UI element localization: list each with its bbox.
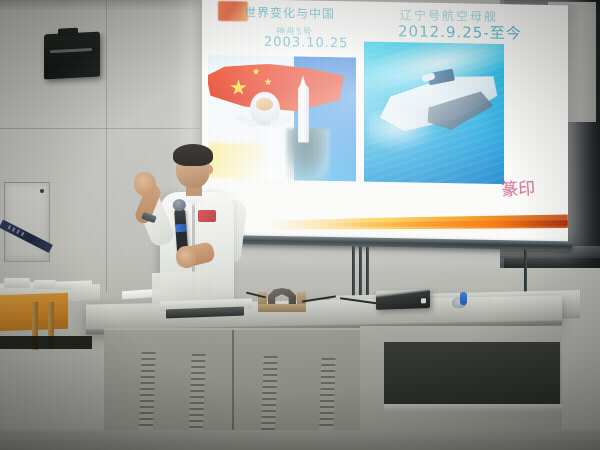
- desk-item: [56, 282, 72, 290]
- presenter-hair: [173, 144, 213, 166]
- blue-object: [452, 292, 470, 308]
- floor: [0, 430, 600, 450]
- presenter-mic-hand: [176, 246, 196, 268]
- presenter-ear: [207, 165, 213, 174]
- desk-item: [34, 280, 56, 289]
- desk-ornament: [258, 288, 306, 310]
- red-seal-stamp: 篆印: [501, 181, 547, 217]
- podium-shelf: [384, 404, 562, 412]
- microphone-head: [172, 199, 186, 212]
- wall-seam: [0, 128, 210, 129]
- screen-support-leg: [524, 250, 527, 294]
- media-box[interactable]: [376, 289, 430, 310]
- speaker-bracket: [58, 28, 78, 36]
- desk-item: [4, 278, 30, 288]
- status-led-icon: [421, 298, 426, 303]
- projection-screen[interactable]: 世界变化与中国 神舟5号 2003.10.25 辽宁号航空母舰 2012.9.2…: [202, 0, 568, 243]
- panel-latch-icon[interactable]: [40, 189, 44, 193]
- lecture-hall-photo: 板书 笔记 世界变化与中国 神舟5号 2003.10.25 辽宁号航空母舰 20…: [0, 0, 600, 450]
- rocket-icon: [298, 84, 309, 142]
- projection-screen-assembly: 世界变化与中国 神舟5号 2003.10.25 辽宁号航空母舰 2012.9.2…: [202, 0, 570, 253]
- slide-image-liaoning: [364, 42, 504, 185]
- slide-title: 世界变化与中国: [244, 3, 335, 22]
- shirt-logo: [198, 210, 216, 222]
- right-caption-line2: 2012.9.25-至今: [398, 20, 522, 43]
- wall-speaker-icon: [44, 32, 100, 80]
- sea-foam: [368, 112, 438, 153]
- presenter-raised-hand: [134, 172, 156, 196]
- speaker-grill: [50, 48, 92, 53]
- left-caption-line2: 2003.10.25: [264, 35, 348, 52]
- blue-object-cap: [460, 292, 467, 305]
- floor-shadow-gap: [0, 336, 92, 349]
- astronaut-visor: [256, 98, 273, 111]
- microphone-band: [175, 224, 187, 233]
- podium-recess: [384, 342, 560, 412]
- wall-seam: [106, 0, 107, 292]
- ornament-base: [258, 304, 306, 312]
- panel-diagonal-object: [0, 219, 53, 252]
- wall-access-panel[interactable]: [4, 182, 50, 262]
- laptop-screen[interactable]: [152, 271, 214, 303]
